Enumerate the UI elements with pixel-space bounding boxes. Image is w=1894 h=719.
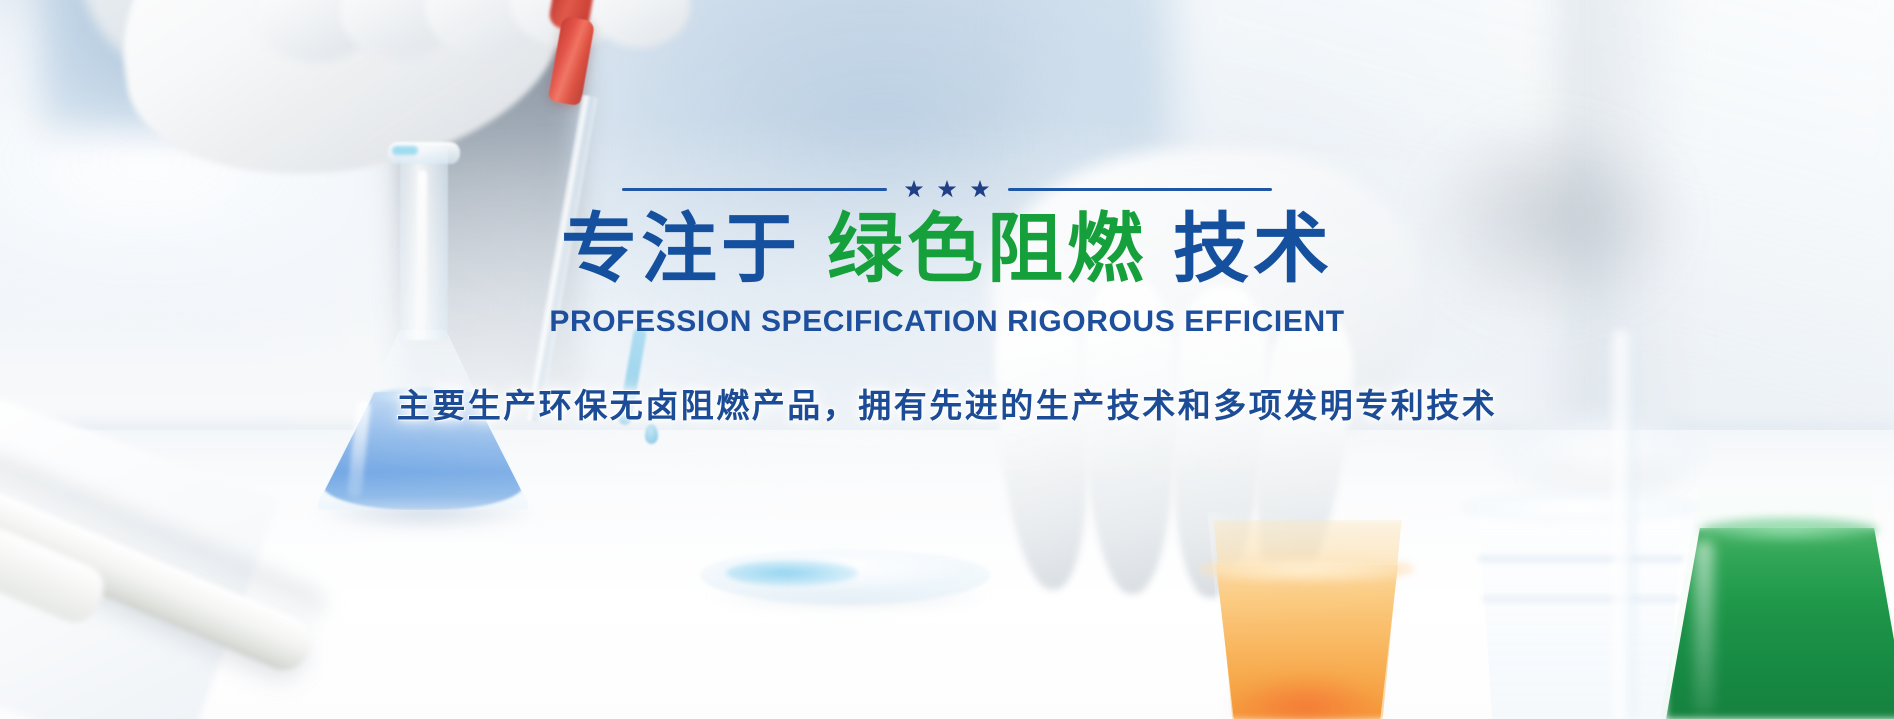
star-icon (905, 180, 924, 199)
headline-part-2: 绿色阻燃 (827, 209, 1147, 291)
star-icon (938, 180, 957, 199)
decorative-rule (622, 180, 1272, 199)
banner-content: 专注于 绿色阻燃 技术 PROFESSION SPECIFICATION RIG… (0, 0, 1894, 719)
headline: 专注于 绿色阻燃 技术 (561, 209, 1333, 291)
headline-part-1: 专注于 (561, 209, 801, 291)
rule-line-left (622, 188, 887, 191)
english-subtitle: PROFESSION SPECIFICATION RIGOROUS EFFICI… (549, 305, 1344, 339)
rule-line-right (1008, 188, 1273, 191)
chinese-tagline: 主要生产环保无卤阻燃产品，拥有先进的生产技术和多项发明专利技术 (397, 379, 1498, 427)
star-group (887, 180, 1008, 199)
headline-part-3: 技术 (1173, 209, 1333, 291)
star-icon (971, 180, 990, 199)
hero-banner: 专注于 绿色阻燃 技术 PROFESSION SPECIFICATION RIG… (0, 0, 1894, 719)
